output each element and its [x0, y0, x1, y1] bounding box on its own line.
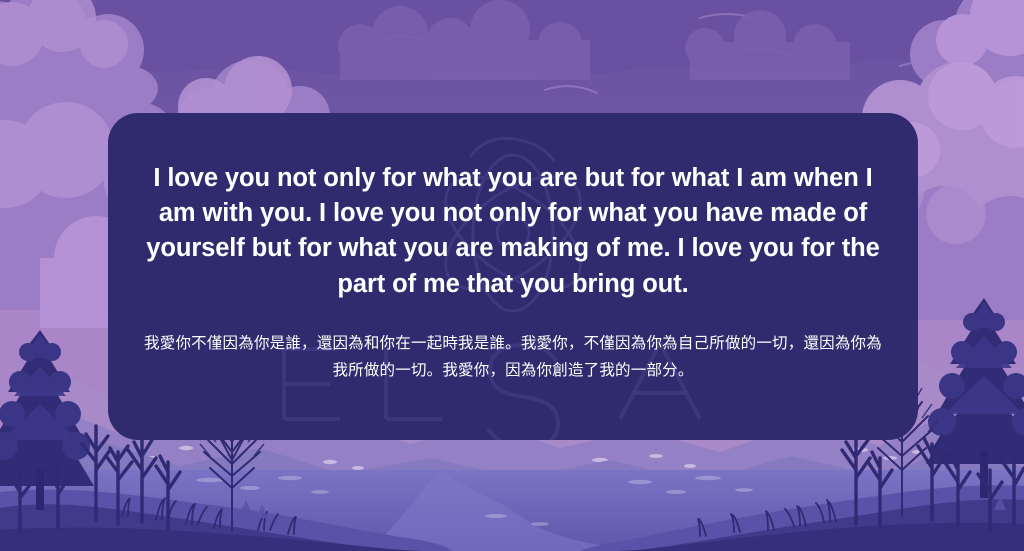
quote-text-chinese: 我愛你不僅因為你是誰，還因為和你在一起時我是誰。我愛你，不僅因為你為自己所做的一… — [144, 330, 882, 384]
quote-card: I love you not only for what you are but… — [108, 113, 918, 440]
quote-card-image: I love you not only for what you are but… — [0, 0, 1024, 551]
quote-text-english: I love you not only for what you are but… — [144, 161, 882, 302]
